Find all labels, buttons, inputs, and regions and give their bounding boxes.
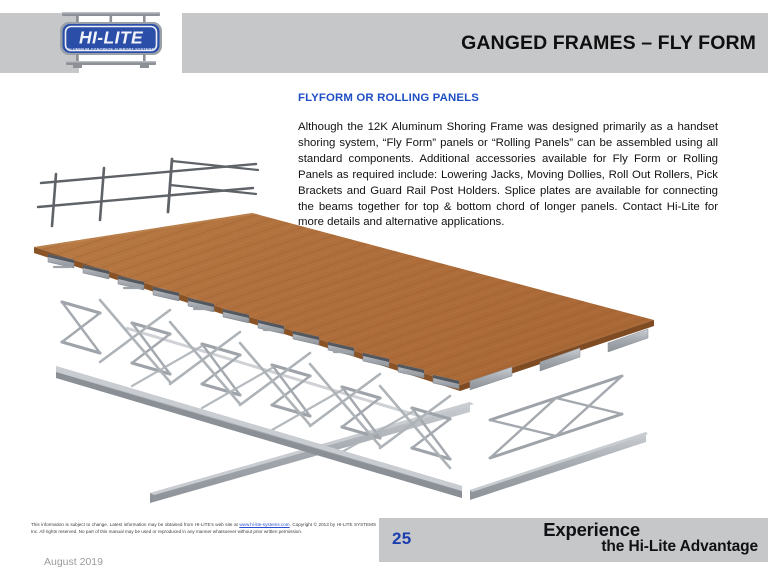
- document-date: August 2019: [44, 556, 103, 568]
- page-title: GANGED FRAMES – FLY FORM: [380, 13, 756, 73]
- guard-rail: [38, 159, 258, 226]
- disclaimer-text-part1: This information is subject to change. L…: [31, 522, 239, 527]
- logo-wordmark: HI-LITE: [79, 28, 144, 48]
- legal-disclaimer: This information is subject to change. L…: [31, 522, 376, 535]
- page-number: 25: [392, 529, 412, 549]
- brand-tagline: Experience the Hi-Lite Advantage: [438, 521, 758, 555]
- tagline-line-2: the Hi-Lite Advantage: [438, 539, 758, 555]
- logo-tagline: ALUMINUM CONCRETE SUPPORT SYSTEMS: [68, 47, 155, 51]
- section-heading: FLYFORM OR ROLLING PANELS: [298, 92, 479, 104]
- website-link[interactable]: www.hi-lite-systems.com: [239, 522, 289, 527]
- hi-lite-logo: HI-LITE ALUMINUM CONCRETE SUPPORT SYSTEM…: [46, 8, 176, 72]
- flyform-rolling-panel-scaffold-render: [0, 150, 700, 530]
